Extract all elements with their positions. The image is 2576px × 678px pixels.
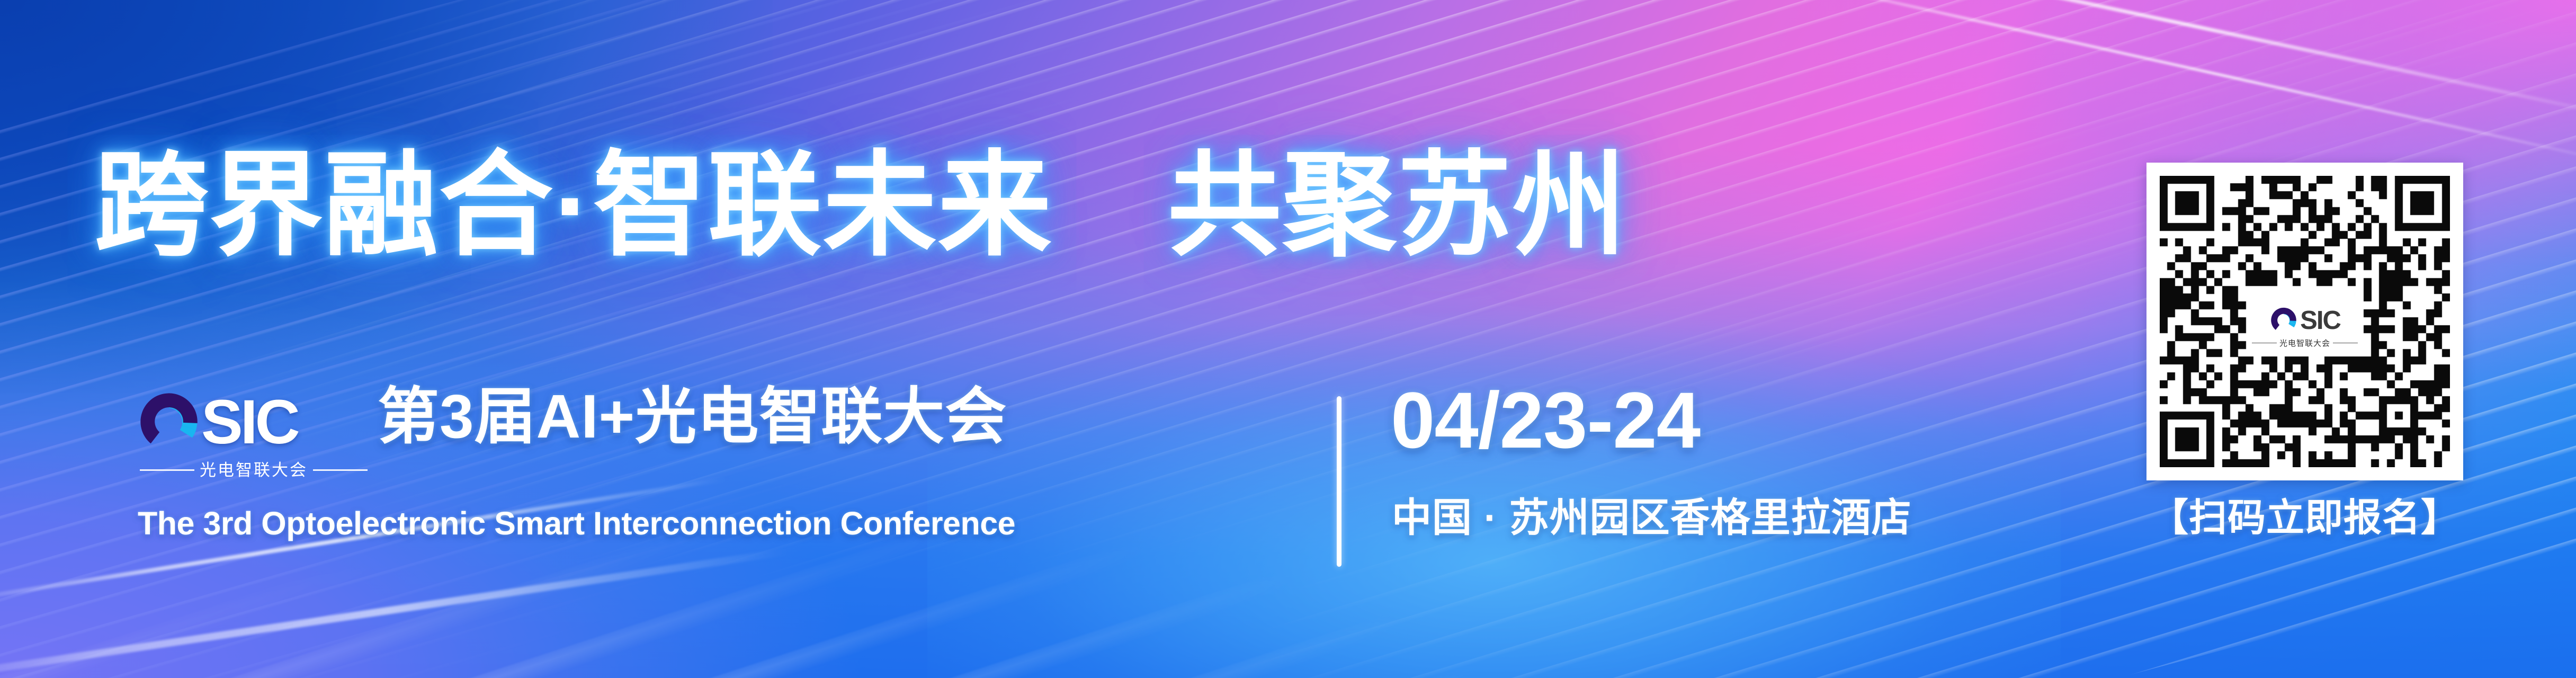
- logo-row: SIC 光电智联大会: [137, 382, 370, 483]
- qr-center-wordmark: SIC: [2300, 308, 2340, 334]
- qr-code-card[interactable]: SIC 光电智联大会: [2146, 163, 2463, 480]
- event-date: 04/23-24: [1391, 380, 1700, 460]
- conference-identity-block: SIC 光电智联大会 第3届AI+光电智联大会 The 3rd Optoelec…: [137, 382, 1323, 557]
- osic-tagline-row: 光电智联大会: [140, 462, 368, 478]
- conference-name-en: The 3rd Optoelectronic Smart Interconnec…: [138, 507, 1015, 540]
- banner-content: 跨界融合·智联未来 共聚苏州 SIC 光电智联大会: [0, 0, 2576, 678]
- event-details-block: 04/23-24 中国 · 苏州园区香格里拉酒店: [1391, 380, 2079, 566]
- qr-tagline-rule-left: [2252, 343, 2277, 344]
- osic-tagline: 光电智联大会: [200, 462, 308, 478]
- registration-qr-block[interactable]: SIC 光电智联大会 【扫码立即报名】: [2141, 157, 2469, 575]
- headline-slogan: 跨界融合·智联未来 共聚苏州: [94, 139, 1958, 271]
- osic-logo: SIC 光电智联大会: [137, 382, 370, 483]
- conference-name-cn: 第3届AI+光电智联大会: [378, 386, 1007, 447]
- qr-center-logo-row: SIC: [2269, 306, 2340, 335]
- osic-ring-mark-icon: [137, 390, 201, 454]
- tagline-rule-right: [313, 469, 368, 471]
- qr-tagline-rule-right: [2333, 343, 2358, 344]
- tagline-rule-left: [140, 469, 194, 471]
- conference-banner: 跨界融合·智联未来 共聚苏州 SIC 光电智联大会: [0, 0, 2576, 678]
- qr-center-tagline: 光电智联大会: [2279, 337, 2330, 349]
- osic-wordmark: SIC: [201, 391, 298, 453]
- qr-osic-ring-mark-icon: [2269, 306, 2298, 335]
- qr-caption: 【扫码立即报名】: [2141, 499, 2469, 537]
- event-location: 中国 · 苏州园区香格里拉酒店: [1392, 498, 1912, 538]
- qr-center-tagline-row: 光电智联大会: [2252, 337, 2358, 349]
- qr-center-logo: SIC 光电智联大会: [2248, 299, 2362, 356]
- qr-code-image[interactable]: SIC 光电智联大会: [2160, 176, 2450, 467]
- vertical-divider: [1337, 396, 1341, 567]
